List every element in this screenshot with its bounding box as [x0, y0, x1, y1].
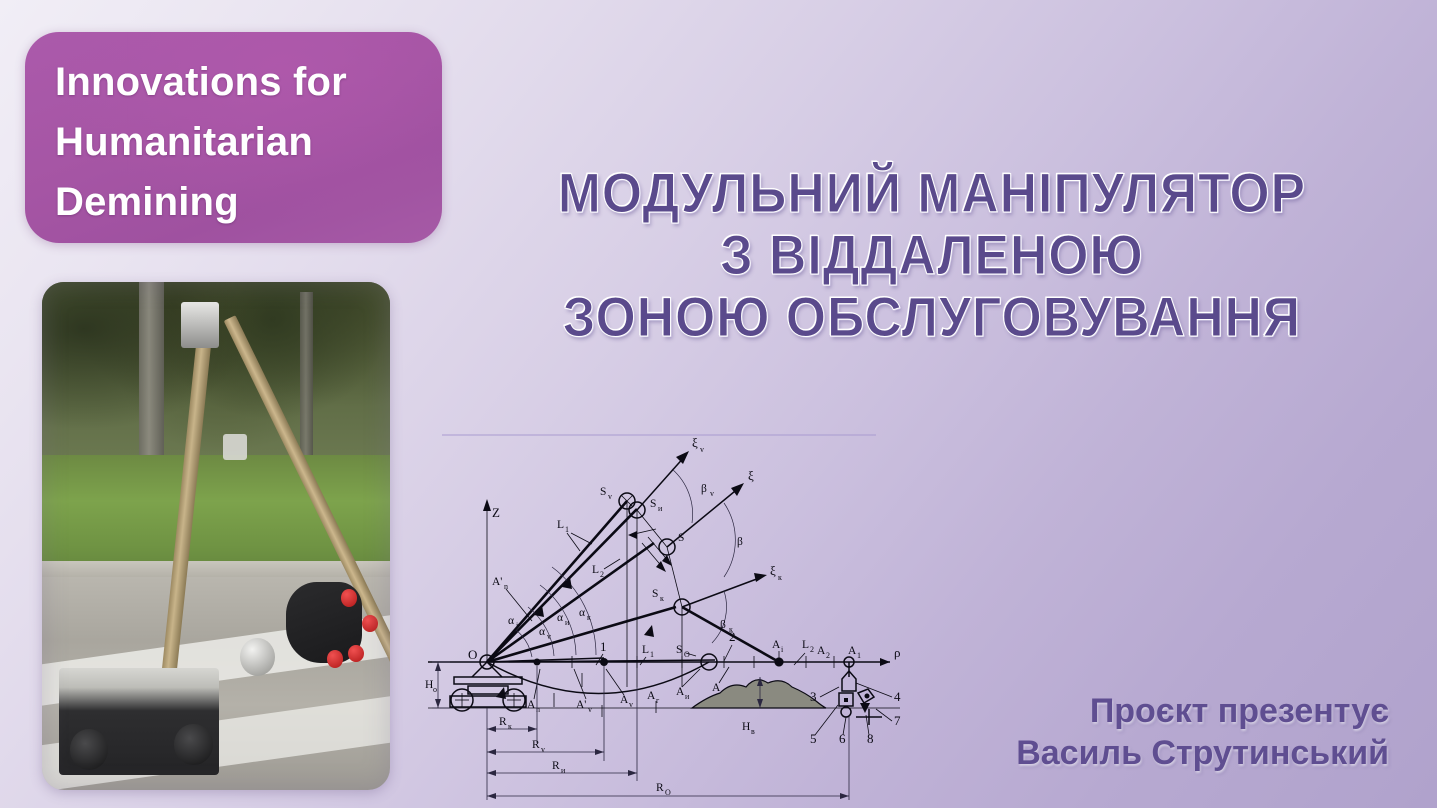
point-sub-Ai3: i: [781, 645, 784, 654]
point-sub-Ag: г: [656, 696, 660, 705]
callout-5: 5: [810, 731, 817, 746]
dimension-label-Rk: R: [499, 716, 507, 728]
logo-line-2: Humanitarian: [55, 120, 313, 165]
point-sub-So: O: [684, 650, 690, 659]
trajectory-ticks: [554, 673, 656, 717]
point-label-An: A: [527, 699, 536, 711]
title-line-3: ЗОНОЮ ОБСЛУГОВУВАННЯ: [490, 286, 1373, 348]
point-sub-Si: и: [658, 504, 663, 513]
dimension-Rv: [487, 749, 604, 755]
xi-v-axis: [637, 455, 686, 510]
angle-label-beta-v: β: [701, 483, 707, 495]
callout-6: 6: [839, 731, 846, 746]
axis-label-rho: ρ: [894, 645, 901, 660]
point-label-A1: A: [848, 645, 857, 657]
leader-Ap: [719, 667, 729, 683]
logo-line-3: Demining: [55, 180, 239, 225]
angle-label-alpha-v: α: [539, 626, 545, 638]
point-label-Ag: A: [647, 690, 656, 702]
point-label-Ap: A: [712, 682, 721, 694]
xi-v-axis-arrow: [676, 451, 689, 464]
angle-sub-alpha-v: v: [547, 632, 551, 641]
point-label-Av: A: [620, 694, 629, 706]
callout-2: 2: [729, 629, 736, 644]
xi-k-axis-arrow: [754, 573, 767, 582]
leader-Avp: [574, 669, 586, 699]
leader-callout-2: [724, 645, 732, 661]
angle-arc-beta-v: [672, 469, 693, 523]
boom-links: [487, 501, 715, 662]
dimension-label-Rv: R: [532, 739, 540, 751]
leader-L1-upper: [567, 533, 580, 551]
point-label-Avp: A': [576, 699, 586, 711]
dimension-extension-lines: [487, 666, 849, 800]
point-sub-An: n: [536, 705, 540, 714]
dimension-Rk: [487, 726, 537, 732]
length-label-L1-upper: L: [557, 519, 564, 531]
axis-label-xi-k: ξ: [770, 563, 776, 578]
angle-arc-beta-k: [712, 591, 727, 643]
length-label-L2-lower: L: [802, 639, 809, 651]
callout-8: 8: [867, 731, 874, 746]
point-label-Si: S: [650, 498, 656, 510]
point-label-O: O: [468, 647, 477, 662]
presentation-slide: Innovations for Humanitarian Demining МО…: [0, 0, 1437, 808]
diagram-svg: ρ Z O: [424, 425, 924, 808]
logo-badge: Innovations for Humanitarian Demining: [25, 32, 442, 243]
axis-sub-xi-k: к: [778, 573, 782, 582]
point-label-Ai3: A: [772, 639, 781, 651]
link-S-Sk: [667, 547, 682, 607]
dimension-label-Ri: R: [552, 760, 560, 772]
point-sub-Ai2: и: [685, 692, 690, 701]
length-sub-L2-lower: 2: [810, 645, 814, 654]
xi-k-axis: [682, 577, 762, 607]
callout-3: 3: [810, 689, 817, 704]
photo-vignette: [42, 282, 390, 790]
point-label-Sk: S: [652, 588, 658, 600]
logo-line-1: Innovations for: [55, 60, 347, 105]
angle-arc-beta: [724, 503, 735, 577]
robot-photo: [42, 282, 390, 790]
angle-label-alpha-i2: α: [557, 612, 563, 624]
dimension-label-Hv: H: [742, 721, 750, 733]
presenter-line-1: Проєкт презентує: [1016, 690, 1389, 732]
point-sub-A1: 1: [857, 651, 861, 660]
callout-7: 7: [894, 713, 901, 728]
dimension-sub-Rv: v: [541, 745, 545, 754]
length-sub-L1-lower: 1: [650, 650, 654, 659]
dimension-sub-Ri: и: [561, 766, 566, 775]
leader-callout-5: [815, 705, 838, 735]
dimension-sub-Ho: o: [433, 685, 437, 694]
dimension-label-Ro: R: [656, 782, 664, 794]
page-title: МОДУЛЬНИЙ МАНІПУЛЯТОР З ВІДДАЛЕНОЮ ЗОНОЮ…: [452, 162, 1412, 348]
axis-sub-xi-v: v: [700, 445, 704, 454]
xi-axis: [667, 487, 740, 547]
point-sub-Sv: v: [608, 492, 612, 501]
presenter-credit: Проєкт презентує Василь Струтинський: [1016, 690, 1389, 774]
point-label-Anp: A': [492, 576, 502, 588]
angle-label-alpha-k: α: [579, 607, 585, 619]
length-label-L2-upper: L: [592, 564, 599, 576]
point-sub-Anp: n: [504, 582, 508, 591]
length-sub-L2-upper: 2: [600, 570, 604, 579]
point-label-So: S: [676, 644, 682, 656]
dimension-sub-Rk: к: [508, 722, 512, 731]
angle-sub-alpha-k: к: [587, 613, 591, 622]
length-sub-L1-upper: 1: [565, 525, 569, 534]
leader-L2-lower: [794, 653, 805, 665]
dimension-sub-Ro: O: [665, 788, 671, 797]
presenter-line-2: Василь Струтинський: [1016, 732, 1389, 774]
axis-label-z: Z: [492, 505, 500, 520]
callout-4: 4: [894, 689, 901, 704]
kinematic-scheme-diagram: ρ Z O: [424, 425, 924, 808]
z-axis-arrow: [483, 499, 491, 511]
angle-sub-beta-v: v: [710, 489, 714, 498]
angle-sub-alpha-i2: и: [565, 618, 570, 627]
point-sub-Sk: к: [660, 594, 664, 603]
xi-axis-arrow: [731, 483, 744, 496]
angle-label-alpha-i: α: [508, 615, 514, 627]
dimension-sub-Hv: в: [751, 727, 755, 736]
title-line-2: З ВІДДАЛЕНОЮ: [490, 224, 1373, 286]
point-sub-Avp: v: [588, 705, 592, 714]
point-label-Sv: S: [600, 486, 606, 498]
point-sub-A2: 2: [826, 651, 830, 660]
point-label-Ai2: A: [676, 686, 685, 698]
title-line-1: МОДУЛЬНИЙ МАНІПУЛЯТОР: [490, 162, 1373, 224]
slide-direction-arrows: [628, 529, 672, 572]
leader-Av: [606, 669, 624, 695]
point-sub-Av: v: [629, 700, 633, 709]
leader-callout-3: [820, 687, 839, 697]
leader-callout-7: [876, 709, 892, 721]
leader-callout-4: [856, 683, 892, 697]
rho-axis-arrow: [880, 658, 890, 666]
axis-label-xi: ξ: [748, 468, 754, 483]
point-label-A2: A: [817, 645, 826, 657]
angle-label-beta: β: [737, 536, 743, 548]
length-label-L1-lower: L: [642, 644, 649, 656]
axis-label-xi-v: ξ: [692, 435, 698, 450]
callout-1: 1: [600, 639, 607, 654]
